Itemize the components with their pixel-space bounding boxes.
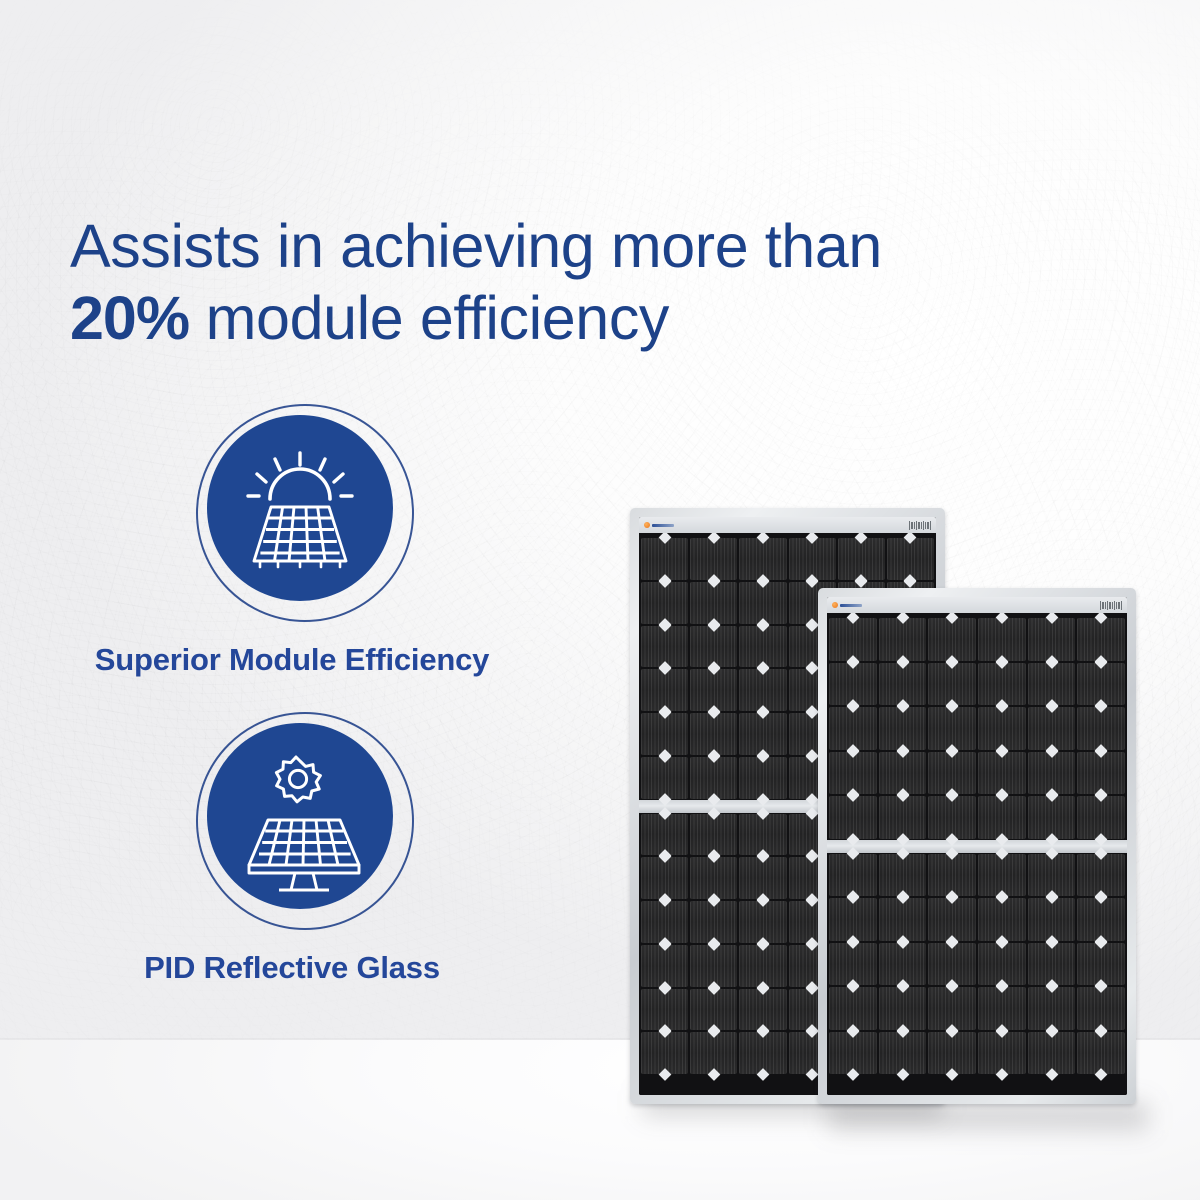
panel-glass (827, 597, 1127, 1095)
feature-badge (192, 712, 412, 932)
barcode-label (1100, 601, 1122, 610)
cell-grid (827, 617, 1127, 840)
panel-shadow (828, 1102, 1148, 1130)
panel-top-strip (827, 597, 1127, 613)
panel-cells-upper (827, 617, 1127, 840)
badge-disc (207, 415, 393, 601)
feature-label: Superior Module Efficiency (0, 642, 602, 678)
panel-center-divider (827, 840, 1127, 853)
feature-badge (192, 404, 412, 624)
solar-panel-small-front[interactable] (818, 588, 1136, 1104)
badge-disc (207, 723, 393, 909)
feature-item-superior-module-efficiency[interactable]: Superior Module Efficiency (0, 404, 600, 624)
marketing-slide: Assists in achieving more than 20% modul… (0, 0, 1200, 1200)
panel-cells-lower (827, 853, 1127, 1076)
feature-label: PID Reflective Glass (0, 950, 602, 986)
sun-over-solar-panel-icon (207, 415, 393, 601)
panel-top-strip (639, 517, 936, 533)
manufacturer-logo (644, 522, 674, 528)
cell-grid (827, 853, 1127, 1076)
barcode-label (909, 521, 931, 530)
feature-item-pid-reflective-glass[interactable]: PID Reflective Glass (0, 712, 600, 932)
manufacturer-logo (832, 602, 862, 608)
sun-gear-over-tilted-solar-panel-icon (207, 723, 393, 909)
product-image-solar-panels (600, 480, 1160, 1160)
feature-list: Superior Module Efficiency (0, 0, 620, 1200)
